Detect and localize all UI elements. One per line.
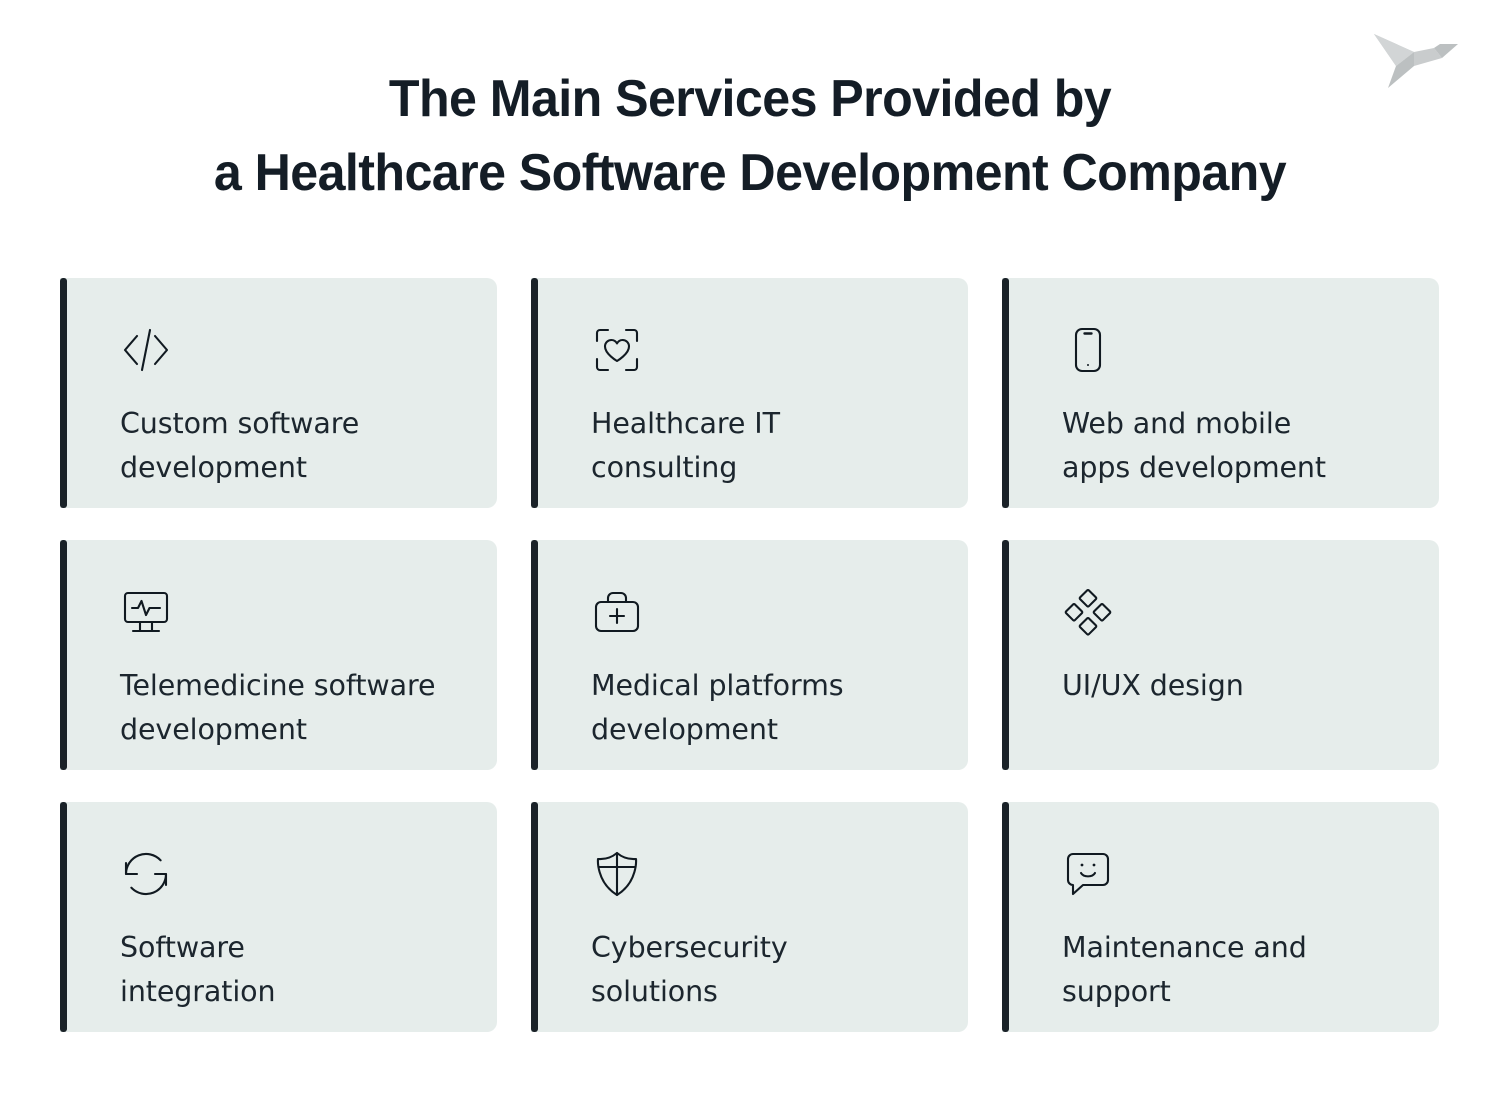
service-card-label: Software integration <box>120 926 463 1014</box>
service-card-ui-ux-design[interactable]: UI/UX design <box>1002 540 1439 770</box>
service-card-cybersecurity-solutions[interactable]: Cybersecurity solutions <box>531 802 968 1032</box>
chat-smiley-icon <box>1062 848 1114 900</box>
service-card-software-integration[interactable]: Software integration <box>60 802 497 1032</box>
smartphone-icon <box>1062 324 1114 376</box>
service-card-label: Cybersecurity solutions <box>591 926 934 1014</box>
service-card-custom-software-development[interactable]: Custom software development <box>60 278 497 508</box>
service-card-healthcare-it-consulting[interactable]: Healthcare IT consulting <box>531 278 968 508</box>
medical-briefcase-icon <box>591 586 643 638</box>
service-card-label: Custom software development <box>120 402 463 490</box>
service-card-label: UI/UX design <box>1062 664 1405 708</box>
service-card-web-and-mobile-apps-development[interactable]: Web and mobile apps development <box>1002 278 1439 508</box>
heart-scan-icon <box>591 324 643 376</box>
service-card-label: Maintenance and support <box>1062 926 1405 1014</box>
service-card-label: Healthcare IT consulting <box>591 402 934 490</box>
service-card-medical-platforms-development[interactable]: Medical platforms development <box>531 540 968 770</box>
refresh-sync-icon <box>120 848 172 900</box>
service-card-label: Web and mobile apps development <box>1062 402 1405 490</box>
page-title-line-1: The Main Services Provided by <box>26 62 1474 136</box>
service-card-maintenance-and-support[interactable]: Maintenance and support <box>1002 802 1439 1032</box>
four-diamonds-icon <box>1062 586 1114 638</box>
monitor-pulse-icon <box>120 586 172 638</box>
service-card-telemedicine-software-development[interactable]: Telemedicine software development <box>60 540 497 770</box>
services-grid: Custom software development Healthcare I… <box>60 278 1440 1032</box>
code-brackets-icon <box>120 324 172 376</box>
page-title-line-2: a Healthcare Software Development Compan… <box>26 136 1474 210</box>
service-card-label: Telemedicine software development <box>120 664 463 752</box>
shield-cross-icon <box>591 848 643 900</box>
page-title: The Main Services Provided by a Healthca… <box>0 62 1500 210</box>
service-card-label: Medical platforms development <box>591 664 934 752</box>
